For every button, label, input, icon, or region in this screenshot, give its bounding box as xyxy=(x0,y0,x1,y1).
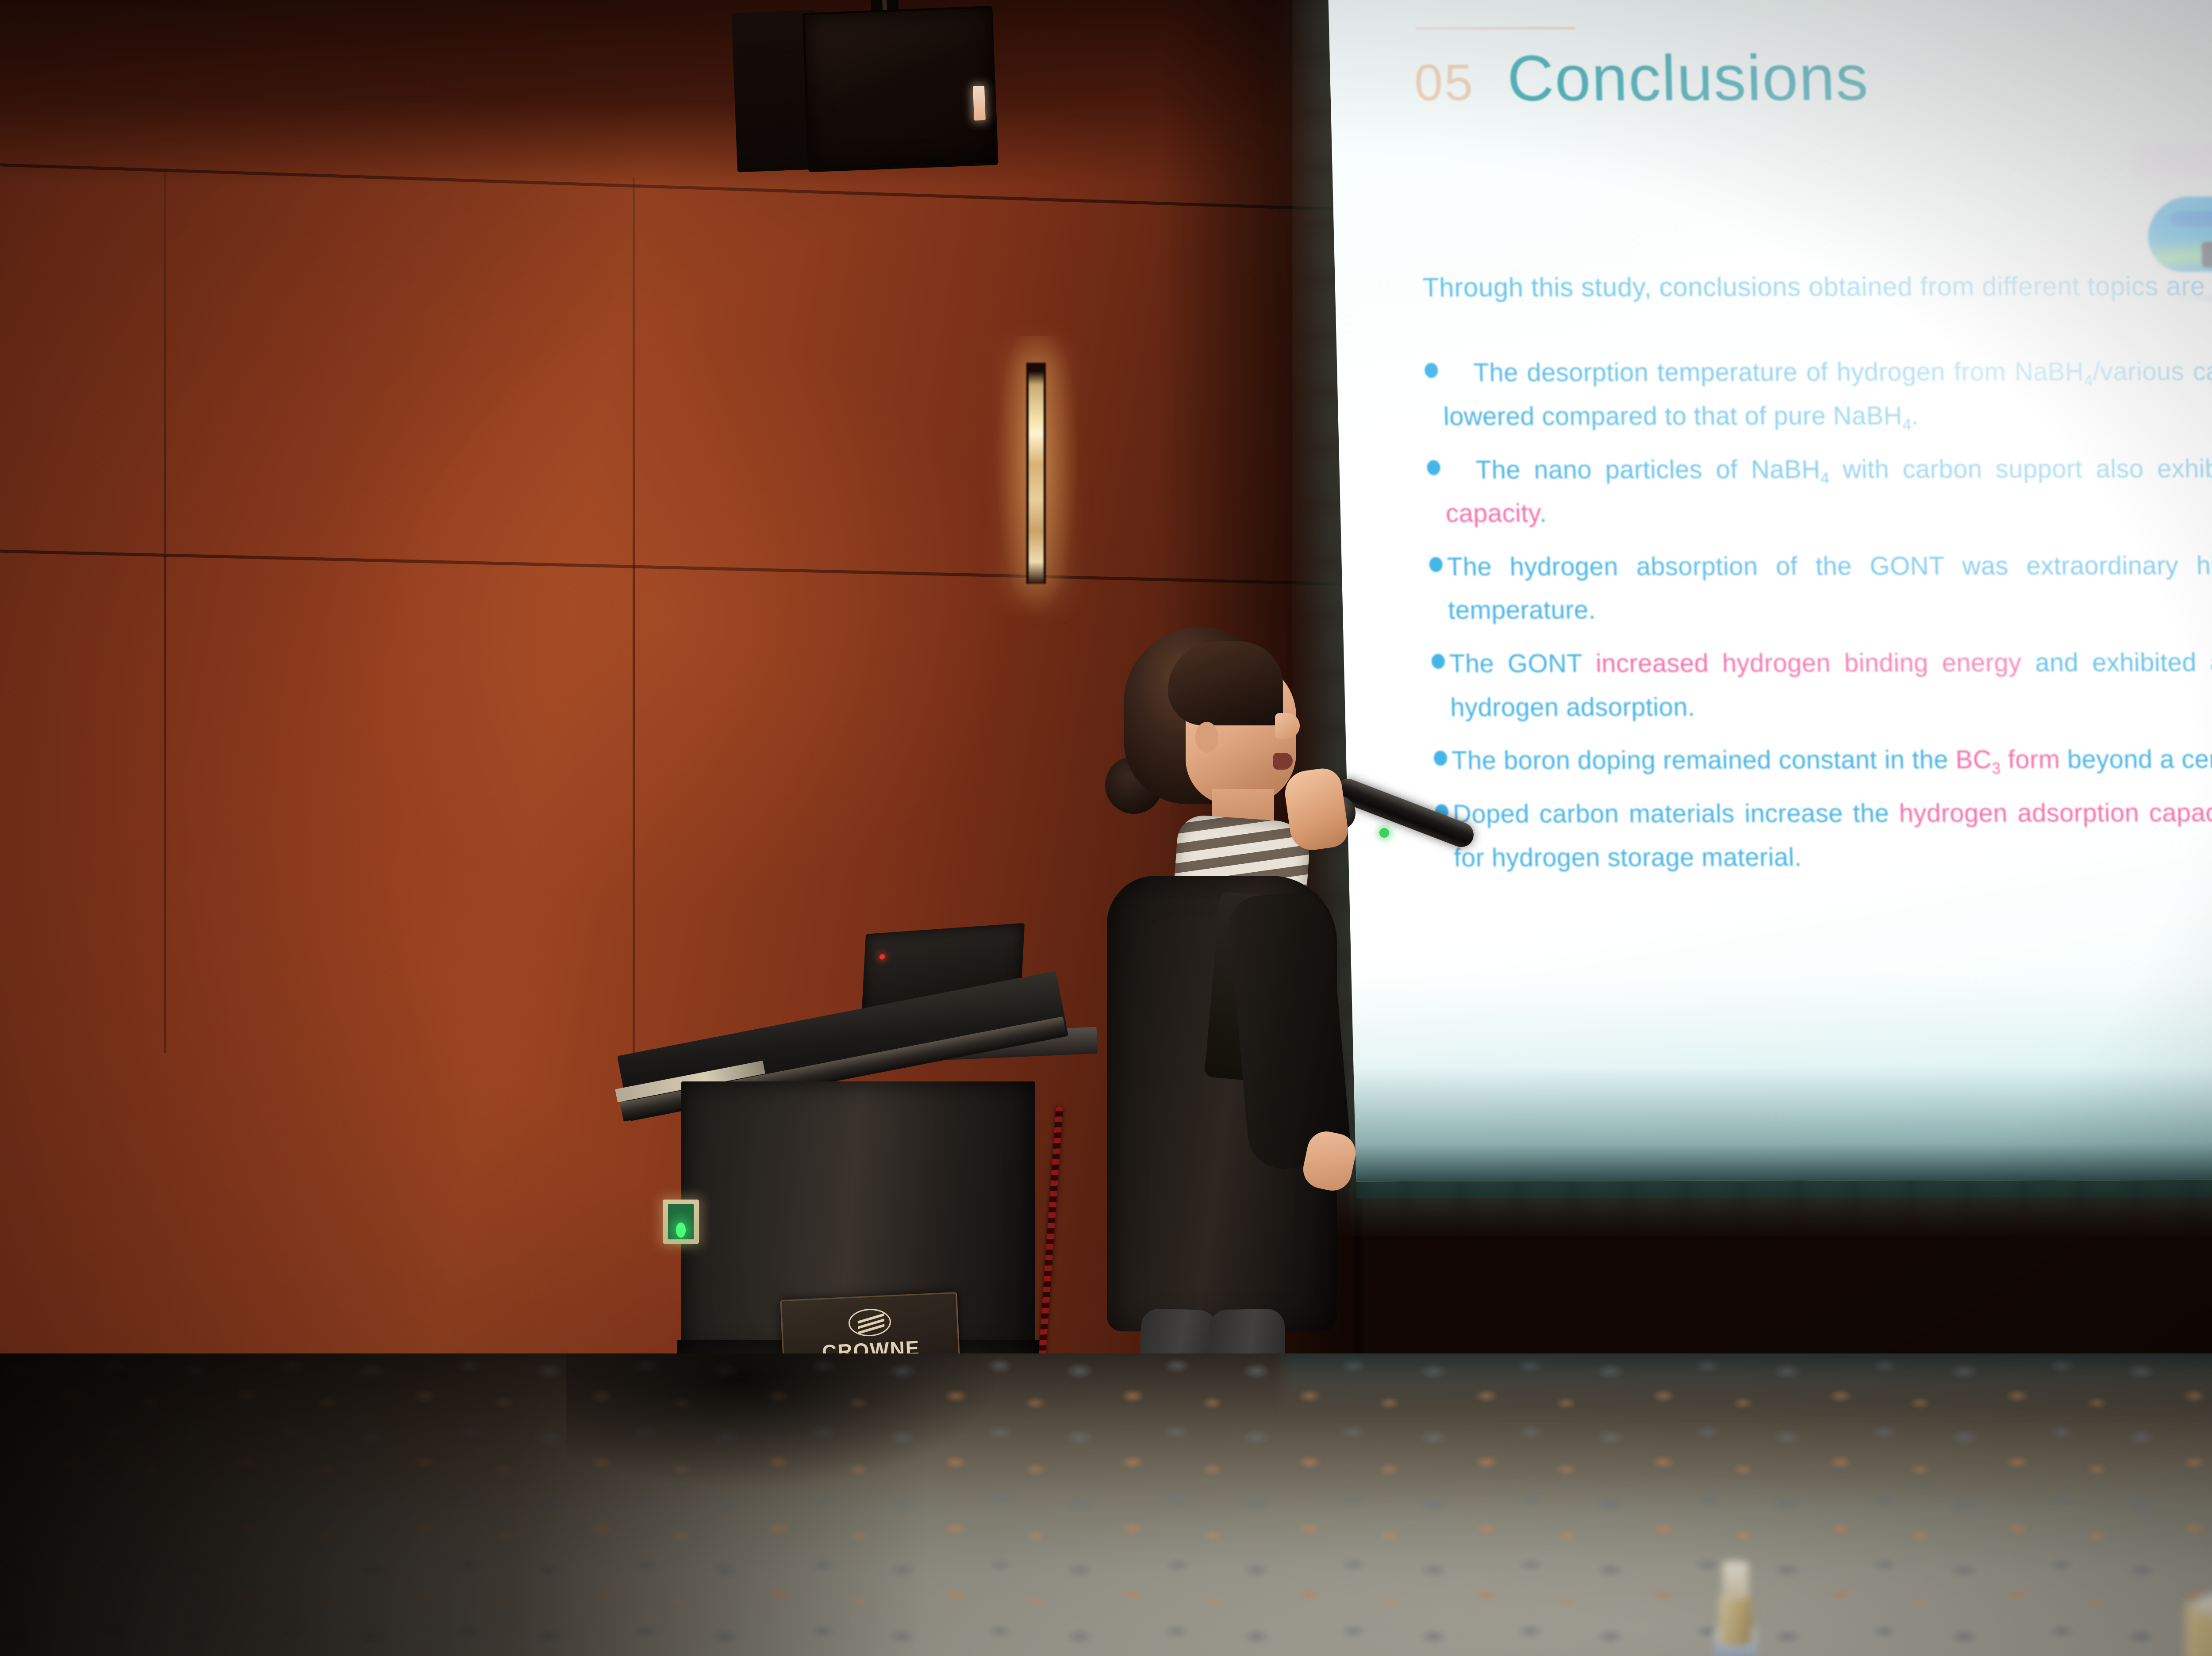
speaker-grille xyxy=(802,6,998,172)
presentation-room-photo: 05 Conclusions Through this study, concl… xyxy=(0,0,2212,1656)
hair-front xyxy=(1168,641,1283,725)
wall-light-slit xyxy=(1026,363,1046,584)
bullet-text-run: . xyxy=(1539,499,1547,528)
bullet-text-run: The boron doping remained constant in th… xyxy=(1451,745,1956,775)
bullet-text-run: The GONT xyxy=(1449,649,1596,678)
wall-top-shadow xyxy=(0,0,1354,186)
mouth xyxy=(1273,753,1293,770)
bullet-text-run: The desorption temperature of hydrogen f… xyxy=(1473,357,2084,387)
paper-cup xyxy=(2185,1601,2212,1656)
projection-screen: 05 Conclusions Through this study, concl… xyxy=(1327,0,2212,1198)
bullet-text-run: The hydrogen absorption of the GONT was … xyxy=(1447,551,2212,581)
microphone-led-icon xyxy=(1379,828,1389,838)
list-item: The boron doping remained constant in th… xyxy=(1433,737,2212,783)
water-bottle xyxy=(1717,1561,1761,1656)
ear xyxy=(1195,722,1218,753)
car-air-intake xyxy=(2201,241,2212,267)
bullet-text-run: form xyxy=(2000,745,2060,774)
bullet-dot-icon xyxy=(1431,654,1445,669)
list-item: The GONT increased hydrogen binding ener… xyxy=(1431,640,2212,730)
podium-floor-shadow xyxy=(566,1353,1274,1656)
slide-body: Through this study, conclusions obtained… xyxy=(1422,264,2212,889)
ceiling-speaker-icon xyxy=(731,0,1003,182)
conclusions-list: The desorption temperature of hydrogen f… xyxy=(1424,349,2212,880)
list-item: The desorption temperature of hydrogen f… xyxy=(1424,349,2212,439)
bullet-text-run: 4 xyxy=(1820,469,1829,487)
slide-surface: 05 Conclusions Through this study, concl… xyxy=(1328,0,2212,1181)
bottle-cap xyxy=(1723,1561,1748,1599)
speaker-indicator-icon xyxy=(973,86,986,121)
bullet-dot-icon xyxy=(1434,751,1448,766)
patterned-carpet xyxy=(0,1353,2212,1656)
power-led-icon xyxy=(879,954,885,960)
bullet-text-run: 4 xyxy=(1902,415,1912,433)
page-title: Conclusions xyxy=(1506,41,1870,115)
slide-number: 05 xyxy=(1413,53,1475,112)
nose xyxy=(1275,713,1300,739)
bullet-dot-icon xyxy=(1425,363,1438,378)
bullet-text-run: The nano particles of NaBH xyxy=(1475,455,1820,484)
bullet-text-run: 3 xyxy=(1992,759,2001,778)
list-item: The nano particles of NaBH4 with carbon … xyxy=(1427,446,2212,536)
bullet-text-run: beyond a certain amount. xyxy=(2060,745,2212,774)
list-item: Doped carbon materials increase the hydr… xyxy=(1435,791,2212,880)
car-headlight xyxy=(2170,211,2212,226)
wall-vertical-seam xyxy=(164,168,166,1053)
bullet-text-run: increased hydrogen binding energy xyxy=(1595,648,2022,678)
slide-intro-paragraph: Through this study, conclusions obtained… xyxy=(1422,264,2212,309)
carpet-shadow-band xyxy=(1283,1353,2212,1415)
bullet-dot-icon xyxy=(1429,557,1443,572)
title-divider-rule xyxy=(1416,27,1575,30)
bottle-neck xyxy=(1719,1592,1752,1645)
bullet-text-run: Doped carbon materials increase the xyxy=(1452,799,1899,828)
podium-status-light xyxy=(663,1200,699,1244)
bullet-text-run: . xyxy=(1911,401,1919,430)
bullet-text-run: hydrogen adsorption capacity xyxy=(1899,798,2212,828)
green-led-icon xyxy=(676,1223,686,1238)
bullet-text-run: 4 xyxy=(2084,372,2093,390)
crowne-plaza-logo-icon xyxy=(848,1308,892,1337)
list-item: The hydrogen absorption of the GONT was … xyxy=(1429,544,2212,633)
bullet-text-run: and exhibited a complete xyxy=(2021,648,2212,677)
bullet-dot-icon xyxy=(1427,460,1440,475)
bullet-text-run: with carbon support also exhibit a xyxy=(1829,454,2212,484)
slide-content: 05 Conclusions Through this study, concl… xyxy=(1328,0,2212,1181)
bullet-text-run: BC xyxy=(1955,745,1992,774)
